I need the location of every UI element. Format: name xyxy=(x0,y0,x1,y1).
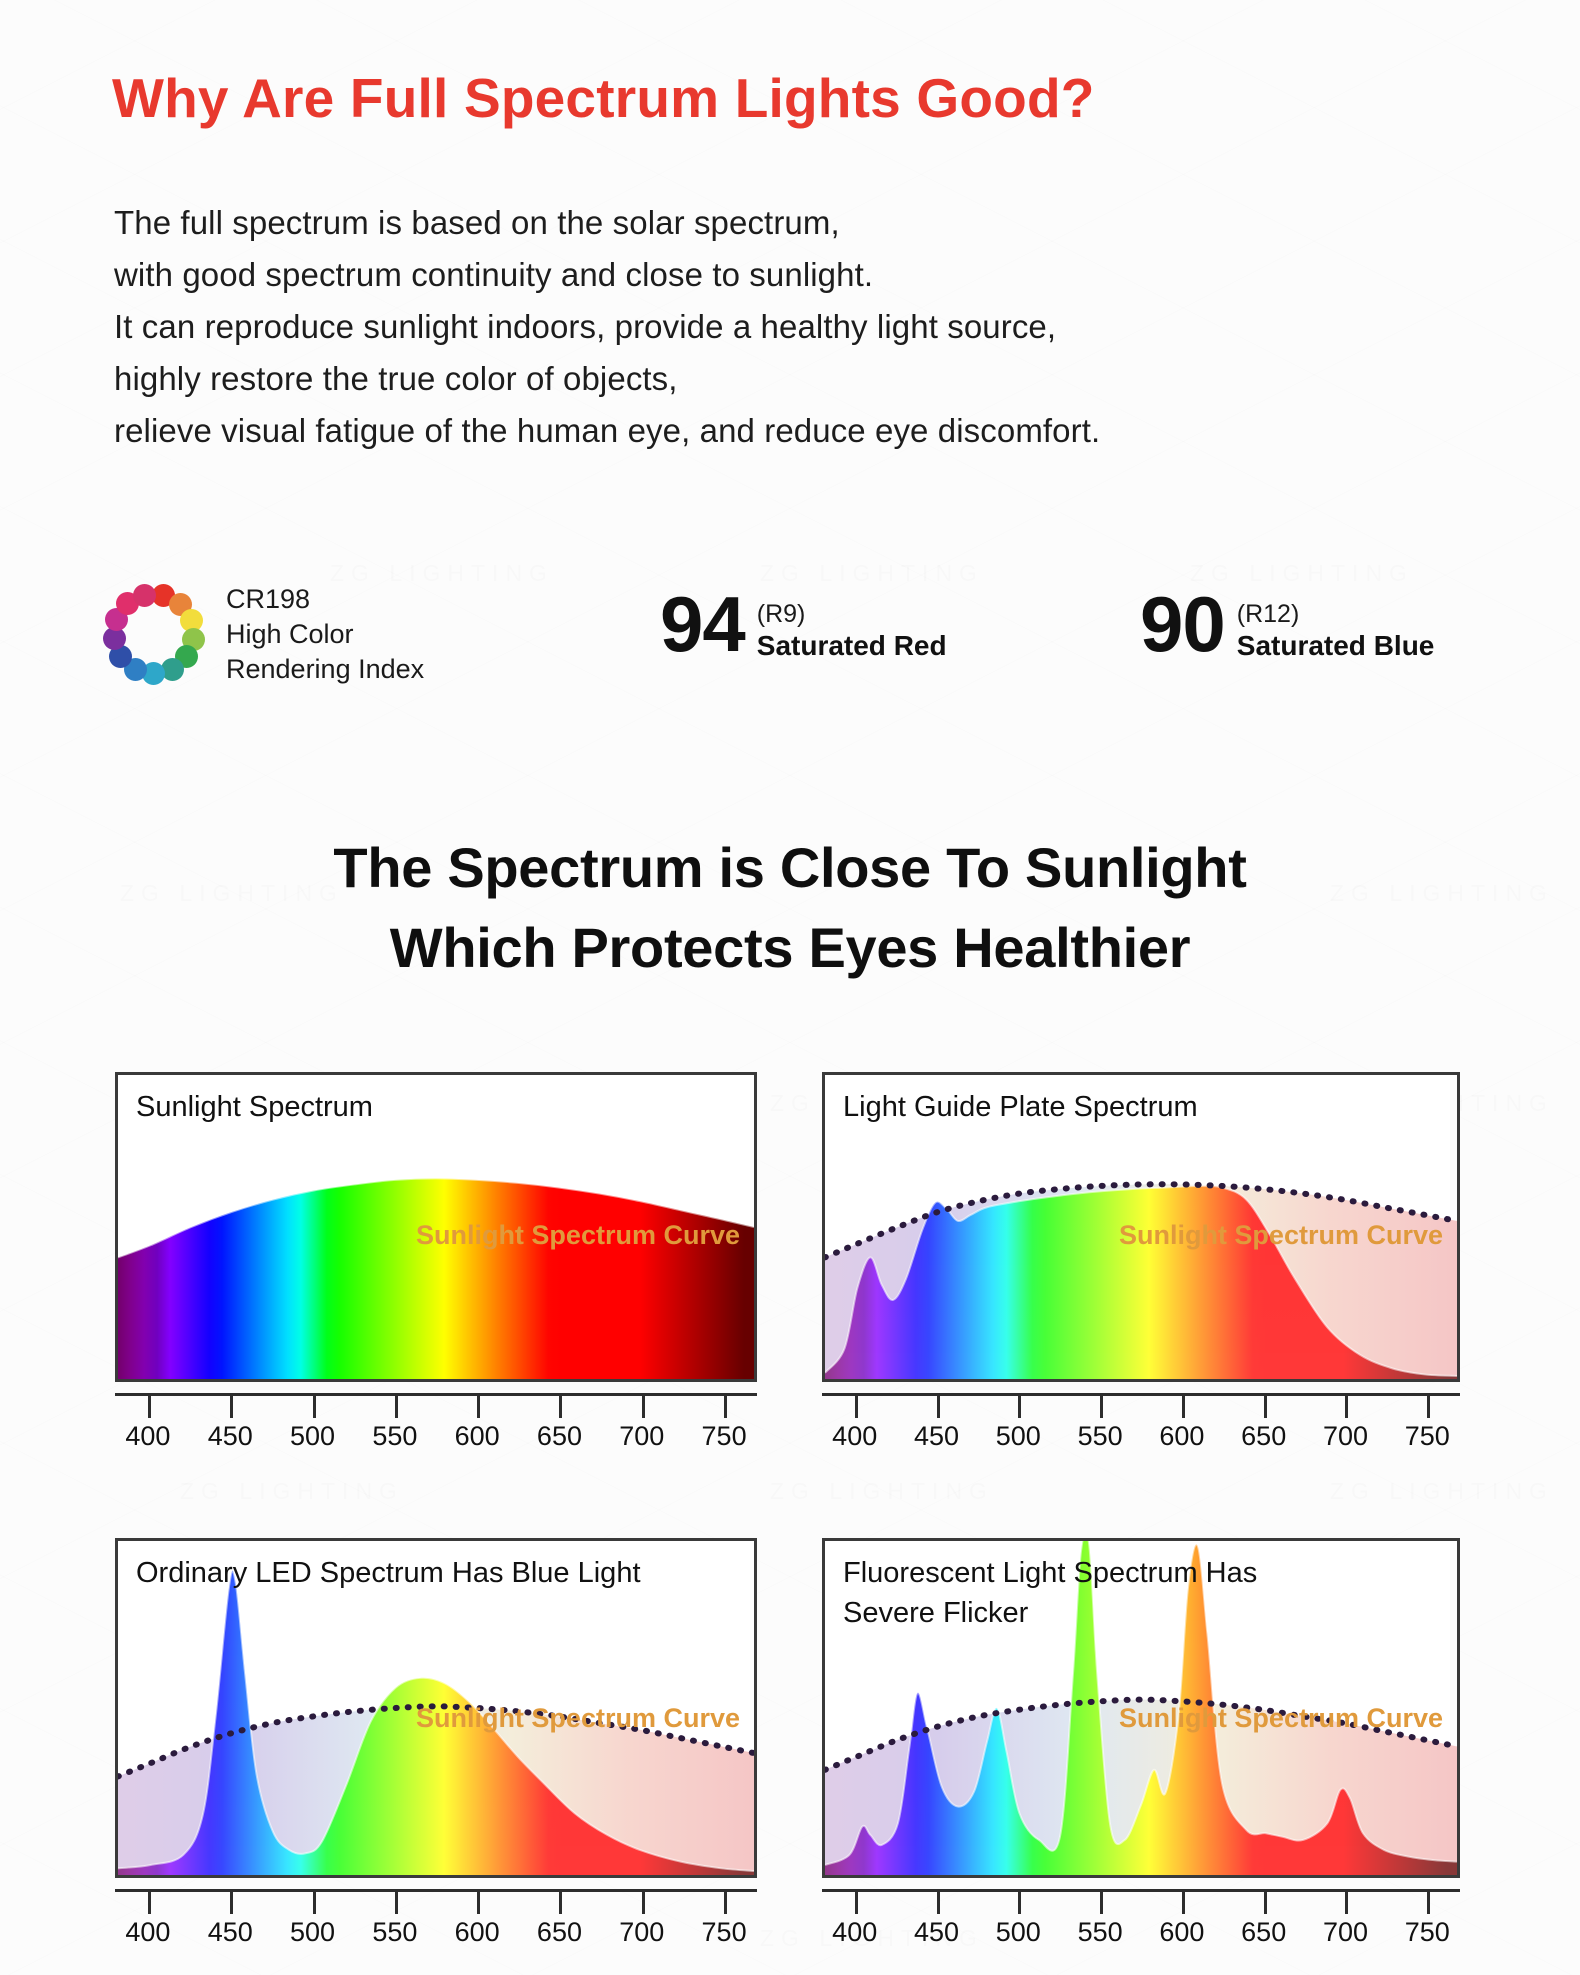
cri-badge: CR198 High Color Rendering Index xyxy=(100,580,424,688)
axis-baseline xyxy=(115,1393,757,1396)
score-r12: 90 (R12) Saturated Blue xyxy=(1140,584,1434,664)
axis-tick-label: 750 xyxy=(702,1917,747,1948)
axis-tick-label: 750 xyxy=(1405,1917,1450,1948)
page-title: Why Are Full Spectrum Lights Good? xyxy=(112,66,1095,130)
axis-tick-label: 450 xyxy=(208,1917,253,1948)
score-r9-label: Saturated Red xyxy=(757,629,947,663)
score-r9-code: (R9) xyxy=(757,600,947,629)
axis-tick-label: 650 xyxy=(1241,1917,1286,1948)
chart-fluorescent-x-axis: 400450500550600650700750 xyxy=(822,1889,1460,1955)
axis-tick-label: 700 xyxy=(619,1421,664,1452)
chart-light-guide-x-axis: 400450500550600650700750 xyxy=(822,1393,1460,1459)
axis-tick-label: 750 xyxy=(702,1421,747,1452)
chart-ordinary-led: Ordinary LED Spectrum Has Blue Light Sun… xyxy=(115,1538,757,1878)
axis-tick-label: 700 xyxy=(1323,1421,1368,1452)
axis-tick-label: 750 xyxy=(1405,1421,1450,1452)
axis-tick-label: 400 xyxy=(125,1917,170,1948)
watermark-text: ZG LIGHTING xyxy=(180,1478,404,1505)
axis-tick-label: 700 xyxy=(619,1917,664,1948)
curve-annotation: Sunlight Spectrum Curve xyxy=(416,1220,740,1251)
intro-line: It can reproduce sunlight indoors, provi… xyxy=(114,301,1100,353)
chart-light-guide-plate: Light Guide Plate Spectrum Sunlight Spec… xyxy=(822,1072,1460,1382)
score-r9-side: (R9) Saturated Red xyxy=(757,584,947,663)
chart-title: Ordinary LED Spectrum Has Blue Light xyxy=(136,1553,641,1593)
axis-tick-label: 600 xyxy=(1159,1421,1204,1452)
chart-ordinary-led-x-axis: 400450500550600650700750 xyxy=(115,1889,757,1955)
chart-title: Sunlight Spectrum xyxy=(136,1087,373,1127)
score-r9-value: 94 xyxy=(660,584,745,664)
axis-tick xyxy=(642,1393,645,1418)
metrics-row: CR198 High Color Rendering Index 94 (R9)… xyxy=(100,580,1520,710)
curve-annotation: Sunlight Spectrum Curve xyxy=(1119,1220,1443,1251)
axis-tick xyxy=(477,1393,480,1418)
section-heading: The Spectrum is Close To Sunlight Which … xyxy=(0,828,1580,988)
axis-tick xyxy=(313,1393,316,1418)
axis-tick xyxy=(1345,1889,1348,1914)
axis-tick-label: 600 xyxy=(455,1917,500,1948)
axis-tick xyxy=(148,1393,151,1418)
axis-tick-label: 500 xyxy=(996,1917,1041,1948)
chart-title: Fluorescent Light Spectrum Has Severe Fl… xyxy=(843,1553,1257,1633)
chart-title: Light Guide Plate Spectrum xyxy=(843,1087,1198,1127)
axis-tick-label: 500 xyxy=(290,1421,335,1452)
axis-tick-label: 450 xyxy=(914,1917,959,1948)
axis-tick xyxy=(1100,1393,1103,1418)
axis-tick xyxy=(1018,1393,1021,1418)
axis-tick-label: 500 xyxy=(290,1917,335,1948)
cri-line-3: Rendering Index xyxy=(226,652,424,687)
axis-tick xyxy=(937,1889,940,1914)
axis-tick-label: 650 xyxy=(537,1917,582,1948)
axis-tick xyxy=(1427,1889,1430,1914)
axis-tick xyxy=(855,1393,858,1418)
curve-annotation: Sunlight Spectrum Curve xyxy=(416,1703,740,1734)
axis-tick xyxy=(230,1889,233,1914)
axis-tick xyxy=(1018,1889,1021,1914)
axis-tick xyxy=(1100,1889,1103,1914)
axis-tick xyxy=(1427,1393,1430,1418)
axis-baseline xyxy=(115,1889,757,1892)
score-r9: 94 (R9) Saturated Red xyxy=(660,584,947,664)
axis-tick-label: 400 xyxy=(832,1421,877,1452)
axis-tick xyxy=(855,1889,858,1914)
cri-line-2: High Color xyxy=(226,617,424,652)
axis-tick xyxy=(724,1393,727,1418)
axis-tick-label: 550 xyxy=(372,1917,417,1948)
axis-tick xyxy=(559,1889,562,1914)
axis-tick xyxy=(395,1889,398,1914)
watermark-text: ZG LIGHTING xyxy=(770,1478,994,1505)
score-r12-label: Saturated Blue xyxy=(1237,629,1435,663)
axis-baseline xyxy=(822,1889,1460,1892)
axis-baseline xyxy=(822,1393,1460,1396)
chart-fluorescent: Fluorescent Light Spectrum Has Severe Fl… xyxy=(822,1538,1460,1878)
axis-tick-label: 700 xyxy=(1323,1917,1368,1948)
axis-tick xyxy=(1182,1889,1185,1914)
axis-tick-label: 400 xyxy=(832,1917,877,1948)
axis-tick xyxy=(1345,1393,1348,1418)
intro-line: relieve visual fatigue of the human eye,… xyxy=(114,405,1100,457)
axis-tick xyxy=(395,1393,398,1418)
curve-annotation: Sunlight Spectrum Curve xyxy=(1119,1703,1443,1734)
score-r12-code: (R12) xyxy=(1237,600,1435,629)
axis-tick-label: 550 xyxy=(1078,1421,1123,1452)
axis-tick-label: 650 xyxy=(537,1421,582,1452)
score-r12-value: 90 xyxy=(1140,584,1225,664)
axis-tick-label: 500 xyxy=(996,1421,1041,1452)
axis-tick xyxy=(1182,1393,1185,1418)
axis-tick xyxy=(477,1889,480,1914)
section-heading-line-1: The Spectrum is Close To Sunlight xyxy=(0,828,1580,908)
axis-tick xyxy=(148,1889,151,1914)
axis-tick xyxy=(313,1889,316,1914)
infographic-page: ZG LIGHTING ZG LIGHTING ZG LIGHTING ZG L… xyxy=(0,0,1580,1975)
axis-tick xyxy=(1264,1393,1267,1418)
axis-tick-label: 600 xyxy=(455,1421,500,1452)
axis-tick-label: 450 xyxy=(914,1421,959,1452)
axis-tick xyxy=(937,1393,940,1418)
axis-tick xyxy=(724,1889,727,1914)
axis-tick xyxy=(1264,1889,1267,1914)
intro-paragraph: The full spectrum is based on the solar … xyxy=(114,197,1100,457)
axis-tick-label: 550 xyxy=(372,1421,417,1452)
color-wheel-icon xyxy=(100,580,208,688)
section-heading-line-2: Which Protects Eyes Healthier xyxy=(0,908,1580,988)
axis-tick xyxy=(230,1393,233,1418)
axis-tick-label: 400 xyxy=(125,1421,170,1452)
watermark-text: ZG LIGHTING xyxy=(1330,1478,1554,1505)
score-r12-side: (R12) Saturated Blue xyxy=(1237,584,1435,663)
axis-tick-label: 600 xyxy=(1159,1917,1204,1948)
chart-sunlight-x-axis: 400450500550600650700750 xyxy=(115,1393,757,1459)
axis-tick-label: 450 xyxy=(208,1421,253,1452)
chart-sunlight-spectrum: Sunlight Spectrum Sunlight Spectrum Curv… xyxy=(115,1072,757,1382)
intro-line: with good spectrum continuity and close … xyxy=(114,249,1100,301)
cri-text-block: CR198 High Color Rendering Index xyxy=(226,582,424,687)
intro-line: highly restore the true color of objects… xyxy=(114,353,1100,405)
axis-tick xyxy=(559,1393,562,1418)
axis-tick-label: 650 xyxy=(1241,1421,1286,1452)
intro-line: The full spectrum is based on the solar … xyxy=(114,197,1100,249)
axis-tick xyxy=(642,1889,645,1914)
color-wheel-dot xyxy=(133,584,156,607)
cri-code: CR198 xyxy=(226,582,424,617)
axis-tick-label: 550 xyxy=(1078,1917,1123,1948)
